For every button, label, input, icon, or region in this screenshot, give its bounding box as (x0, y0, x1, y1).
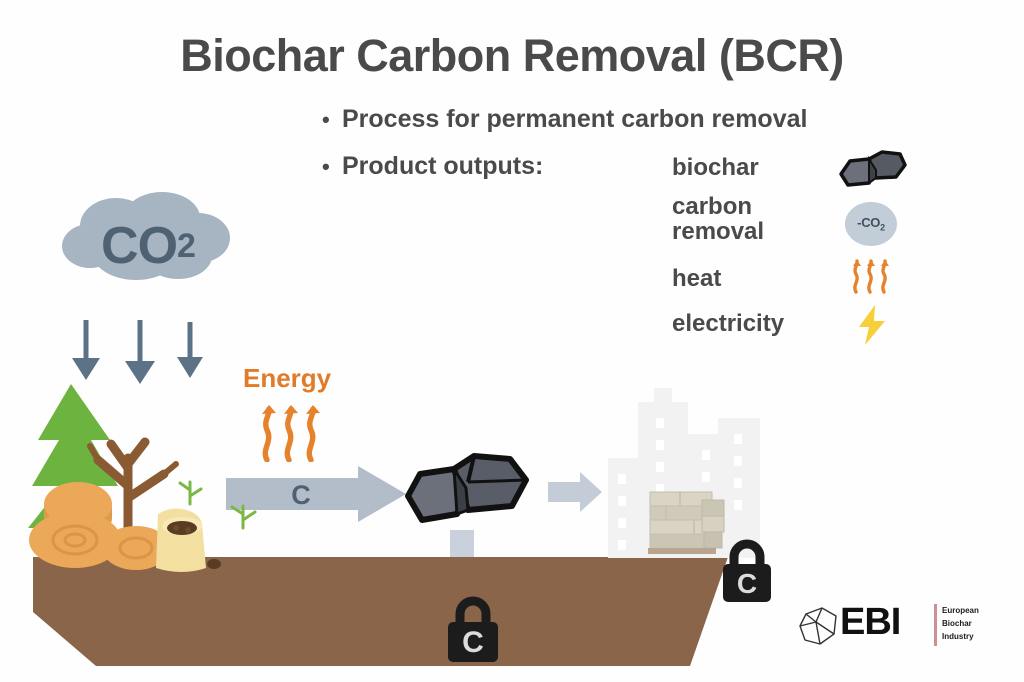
minus-co2-text: -CO2 (857, 215, 885, 233)
co2-cloud-icon (58, 190, 238, 290)
biochar-chunks-large-icon (402, 452, 534, 534)
bullet-text: Product outputs: (342, 152, 543, 180)
bullet-item-outputs: •Product outputs: (322, 152, 543, 181)
product-transfer-arrow (548, 470, 602, 514)
bullet-marker: • (322, 107, 342, 133)
carbon-removal-line2: removal (672, 219, 764, 244)
ebi-biochar-mark-icon (796, 604, 840, 648)
ebi-tagline: European Biochar Industry (942, 604, 1012, 643)
ebi-divider-bar (934, 604, 937, 646)
bullet-text: Process for permanent carbon removal (342, 105, 807, 133)
lightning-bolt-icon (855, 305, 889, 345)
product-output-label-heat: heat (672, 266, 721, 291)
svg-text:C: C (737, 568, 757, 599)
bullet-marker: • (322, 154, 342, 180)
ebi-wordmark: EBI (840, 600, 900, 644)
ebi-tagline-line1: European (942, 604, 1012, 617)
biochar-sack (156, 508, 221, 572)
product-output-label-electricity: electricity (672, 311, 784, 336)
ebi-tagline-line2: Biochar (942, 617, 1012, 630)
biomass-landscape (18, 378, 278, 578)
ebi-tagline-line3: Industry (942, 630, 1012, 643)
hay-bales (29, 482, 170, 570)
product-output-label-biochar: biochar (672, 155, 759, 180)
heat-waves-icon (848, 258, 894, 294)
brick-stack (648, 492, 724, 554)
bullet-item-process: •Process for permanent carbon removal (322, 105, 807, 134)
minus-co2-circle-icon: -CO2 (845, 202, 897, 246)
lock-soil-icon: C (442, 592, 504, 664)
product-output-label-carbon-removal: carbon removal (672, 194, 764, 244)
page-title: Biochar Carbon Removal (BCR) (0, 30, 1024, 82)
carbon-removal-line1: carbon (672, 194, 764, 219)
lock-city-icon: C (718, 536, 776, 604)
slide-canvas: Biochar Carbon Removal (BCR) •Process fo… (0, 0, 1024, 682)
svg-text:C: C (462, 626, 484, 659)
co2-down-arrows-icon (62, 318, 222, 386)
biochar-chunks-icon (838, 150, 908, 190)
ebi-logo: EBI European Biochar Industry (796, 596, 956, 656)
